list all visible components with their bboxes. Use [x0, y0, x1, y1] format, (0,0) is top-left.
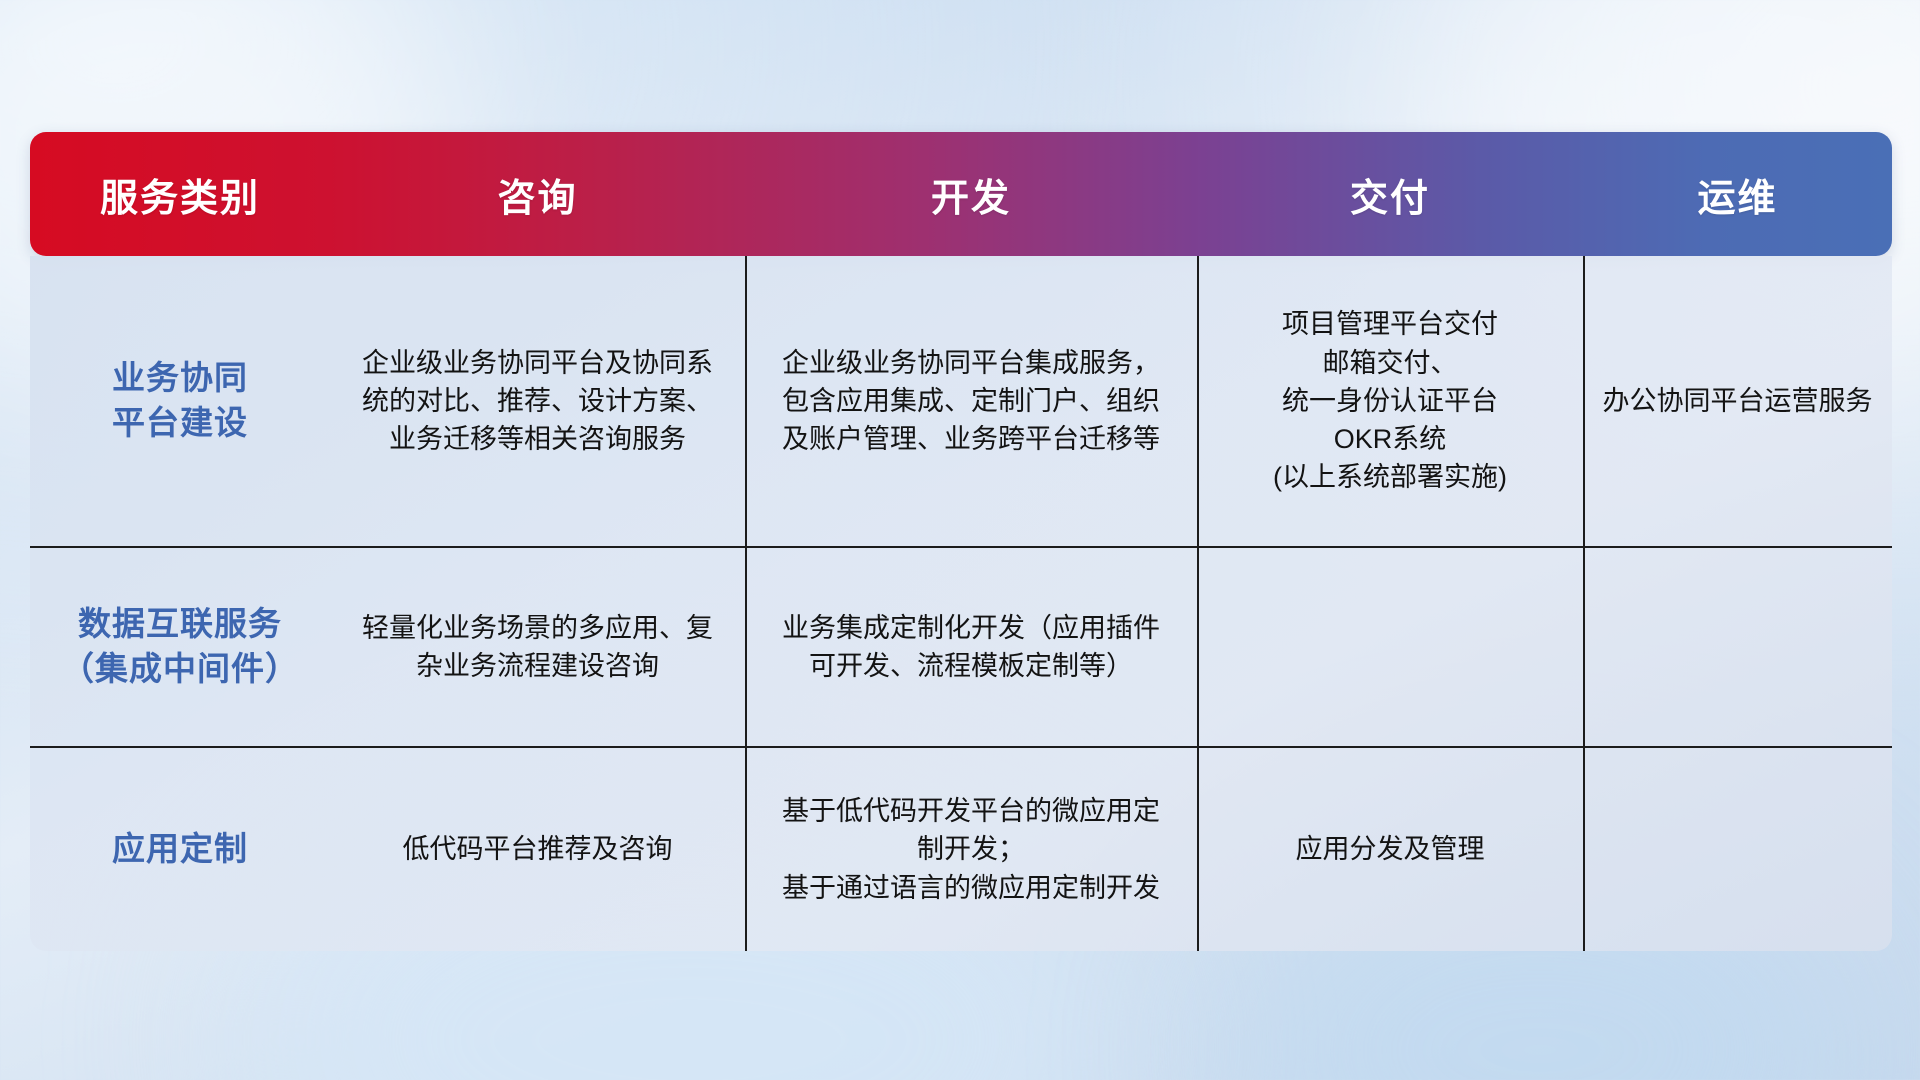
- header-label-consulting: 咨询: [497, 167, 577, 222]
- header-label-category: 服务类别: [100, 167, 260, 222]
- table-row: 业务协同 平台建设 企业级业务协同平台及协同系 统的对比、推荐、设计方案、 业务…: [30, 256, 1892, 546]
- cell-delivery: 应用分发及管理: [1197, 748, 1583, 951]
- cell-development: 基于低代码开发平台的微应用定 制开发； 基于通过语言的微应用定制开发: [745, 748, 1197, 951]
- cell-operations: [1583, 748, 1892, 951]
- table-row: 数据互联服务 （集成中间件） 轻量化业务场景的多应用、复 杂业务流程建设咨询 业…: [30, 546, 1892, 746]
- table-header-row: 服务类别 咨询 开发 交付 运维: [30, 132, 1892, 256]
- cell-category: 数据互联服务 （集成中间件）: [30, 548, 330, 746]
- header-label-delivery: 交付: [1350, 167, 1430, 222]
- table-body: 业务协同 平台建设 企业级业务协同平台及协同系 统的对比、推荐、设计方案、 业务…: [30, 256, 1892, 951]
- cell-text-consulting: 轻量化业务场景的多应用、复 杂业务流程建设咨询: [362, 609, 713, 686]
- header-cell-delivery: 交付: [1197, 132, 1583, 256]
- category-label: 业务协同 平台建设: [112, 356, 248, 445]
- header-label-operations: 运维: [1697, 167, 1777, 222]
- cell-delivery: 项目管理平台交付 邮箱交付、 统一身份认证平台 OKR系统 (以上系统部署实施): [1197, 256, 1583, 546]
- header-cell-operations: 运维: [1583, 132, 1892, 256]
- header-cell-development: 开发: [745, 132, 1197, 256]
- header-cell-category: 服务类别: [30, 132, 330, 256]
- cell-consulting: 低代码平台推荐及咨询: [330, 748, 745, 951]
- cell-text-consulting: 低代码平台推荐及咨询: [403, 830, 673, 868]
- cell-category: 业务协同 平台建设: [30, 256, 330, 546]
- cell-text-development: 业务集成定制化开发（应用插件 可开发、流程模板定制等）: [782, 609, 1160, 686]
- cell-development: 企业级业务协同平台集成服务， 包含应用集成、定制门户、组织 及账户管理、业务跨平…: [745, 256, 1197, 546]
- cell-consulting: 企业级业务协同平台及协同系 统的对比、推荐、设计方案、 业务迁移等相关咨询服务: [330, 256, 745, 546]
- cell-consulting: 轻量化业务场景的多应用、复 杂业务流程建设咨询: [330, 548, 745, 746]
- service-matrix-table: 服务类别 咨询 开发 交付 运维 业务协同 平台建设 企业级业务协同平台及协同系…: [30, 132, 1892, 951]
- category-label: 应用定制: [112, 827, 248, 872]
- cell-operations: 办公协同平台运营服务: [1583, 256, 1892, 546]
- cell-text-development: 企业级业务协同平台集成服务， 包含应用集成、定制门户、组织 及账户管理、业务跨平…: [782, 344, 1160, 459]
- cell-text-delivery: 项目管理平台交付 邮箱交付、 统一身份认证平台 OKR系统 (以上系统部署实施): [1273, 305, 1507, 497]
- table-row: 应用定制 低代码平台推荐及咨询 基于低代码开发平台的微应用定 制开发； 基于通过…: [30, 746, 1892, 951]
- cell-text-development: 基于低代码开发平台的微应用定 制开发； 基于通过语言的微应用定制开发: [782, 792, 1160, 907]
- header-label-development: 开发: [931, 167, 1011, 222]
- cell-text-delivery: 应用分发及管理: [1296, 830, 1485, 868]
- cell-text-operations: 办公协同平台运营服务: [1603, 382, 1873, 420]
- cell-category: 应用定制: [30, 748, 330, 951]
- cell-delivery: [1197, 548, 1583, 746]
- cell-development: 业务集成定制化开发（应用插件 可开发、流程模板定制等）: [745, 548, 1197, 746]
- category-label: 数据互联服务 （集成中间件）: [61, 602, 299, 691]
- cell-operations: [1583, 548, 1892, 746]
- cell-text-consulting: 企业级业务协同平台及协同系 统的对比、推荐、设计方案、 业务迁移等相关咨询服务: [362, 344, 713, 459]
- header-cell-consulting: 咨询: [330, 132, 745, 256]
